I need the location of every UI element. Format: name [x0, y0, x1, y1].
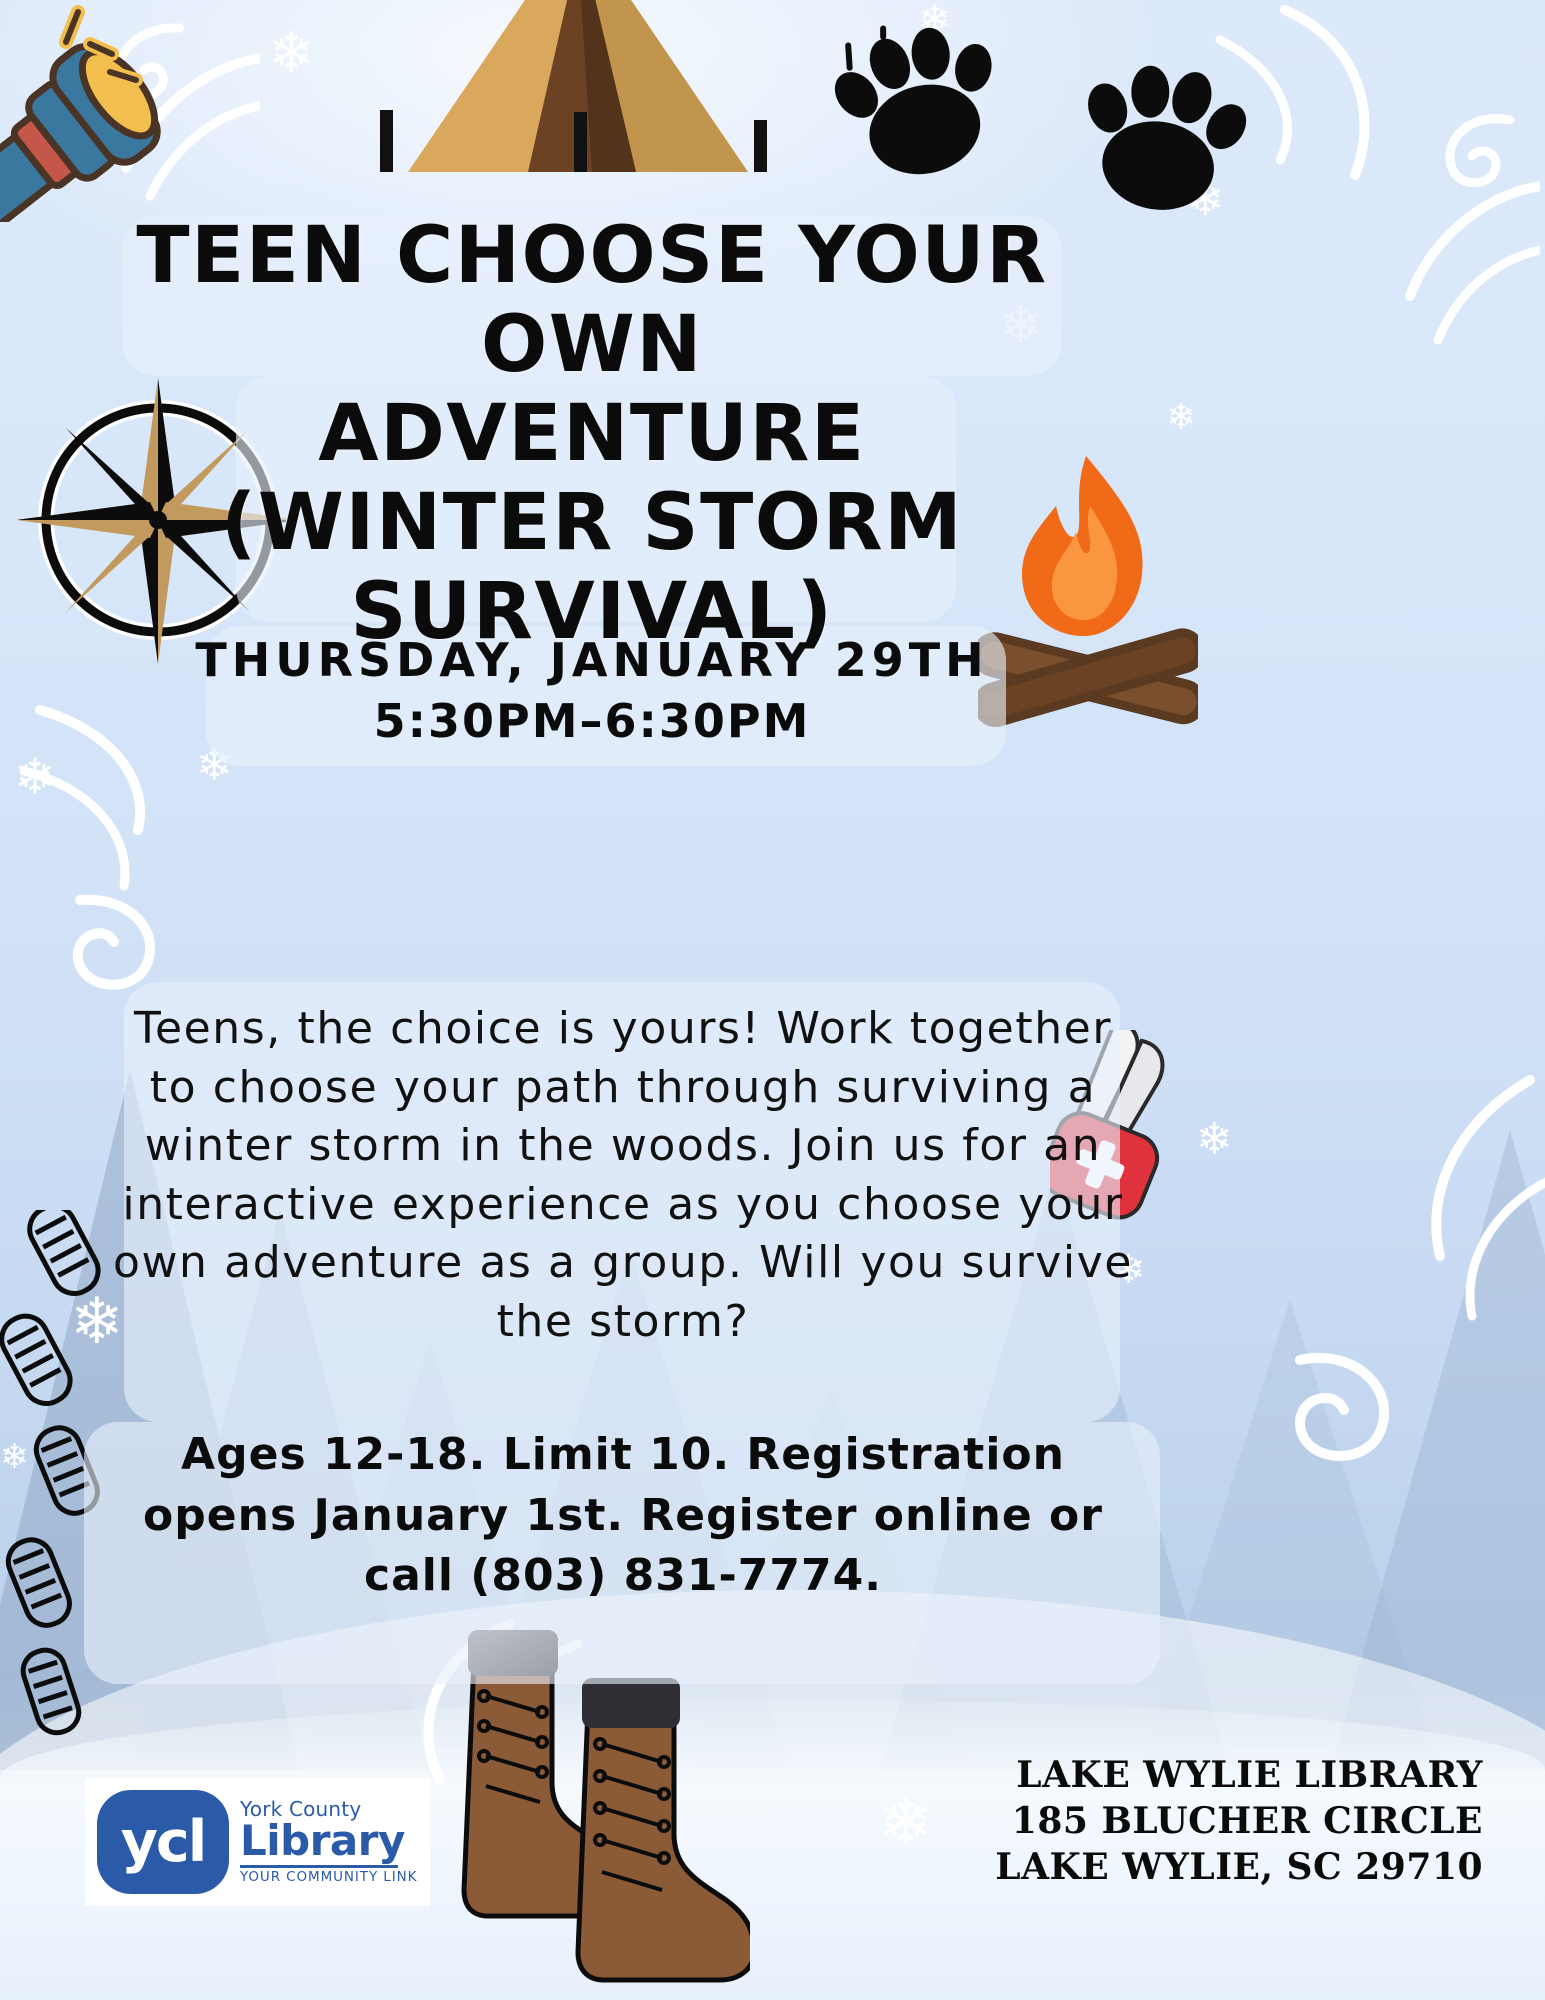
logo-tagline: YOUR COMMUNITY LINK [240, 1871, 417, 1885]
ycl-logo: ycl York County Library YOUR COMMUNITY L… [85, 1778, 430, 1906]
logo-rule [240, 1865, 398, 1868]
event-description: Teens, the choice is yours! Work togethe… [108, 1000, 1138, 1351]
library-address: LAKE WYLIE LIBRARY 185 BLUCHER CIRCLE LA… [995, 1752, 1483, 1890]
title-line-2: ADVENTURE [92, 390, 1092, 479]
page-title: TEEN CHOOSE YOUR OWN ADVENTURE (WINTER S… [92, 212, 1092, 657]
event-date: THURSDAY, JANUARY 29TH [92, 632, 1092, 690]
title-line-3: (WINTER STORM [92, 479, 1092, 568]
event-datetime: THURSDAY, JANUARY 29TH 5:30PM–6:30PM [92, 632, 1092, 752]
poster-canvas: ❄ ❄ ❄ ❄ ❄ ❄ ❄ ❄ ❄ ❄ ❄ ❄ [0, 0, 1545, 2000]
registration-info: Ages 12-18. Limit 10. Registration opens… [108, 1425, 1138, 1607]
title-line-1: TEEN CHOOSE YOUR OWN [92, 212, 1092, 390]
ycl-logo-mark: ycl [97, 1790, 229, 1894]
registration-text: Ages 12-18. Limit 10. Registration opens… [108, 1425, 1138, 1607]
event-description-text: Teens, the choice is yours! Work togethe… [108, 1000, 1138, 1351]
address-line-2: 185 BLUCHER CIRCLE [995, 1798, 1483, 1844]
event-time: 5:30PM–6:30PM [92, 690, 1092, 752]
address-line-3: LAKE WYLIE, SC 29710 [995, 1844, 1483, 1890]
ycl-logo-text: York County Library YOUR COMMUNITY LINK [240, 1799, 417, 1885]
logo-line-library: Library [240, 1820, 417, 1862]
address-line-1: LAKE WYLIE LIBRARY [995, 1752, 1483, 1798]
